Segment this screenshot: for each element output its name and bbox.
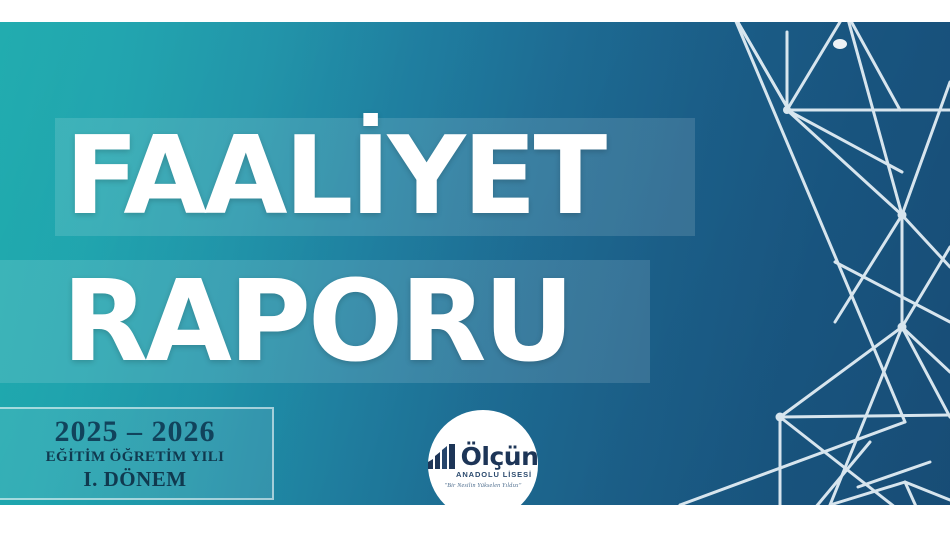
title-band-faaliyet: FAALİYET — [55, 118, 695, 236]
gradient-banner: FAALİYET RAPORU 2025 – 2026 EĞİTİM ÖĞRET… — [0, 22, 950, 505]
title-band-raporu: RAPORU — [0, 260, 650, 383]
school-logo: Ölçün ANADOLU LİSESİ "Bir Nesilin Yüksel… — [428, 410, 538, 505]
bar-chart-icon — [428, 443, 458, 469]
decor-dot — [833, 39, 847, 49]
logo-motto: "Bir Nesilin Yükselen Yıldızı" — [445, 482, 522, 490]
logo-school-type: ANADOLU LİSESİ — [456, 470, 532, 479]
polygon-network-decoration — [650, 22, 950, 505]
title-line-2: RAPORU — [62, 266, 571, 378]
academic-years: 2025 – 2026 — [55, 416, 216, 448]
letterbox-top — [0, 0, 950, 22]
report-cover: FAALİYET RAPORU 2025 – 2026 EĞİTİM ÖĞRET… — [0, 0, 950, 534]
title-line-1: FAALİYET — [65, 123, 604, 231]
logo-wordmark: Ölçün — [461, 444, 539, 469]
academic-year-box: 2025 – 2026 EĞİTİM ÖĞRETİM YILI I. DÖNEM — [0, 407, 274, 500]
letterbox-bottom — [0, 505, 950, 534]
academic-term: I. DÖNEM — [83, 467, 186, 492]
logo-mark-row: Ölçün — [428, 443, 539, 469]
academic-year-label: EĞİTİM ÖĞRETİM YILI — [46, 448, 225, 467]
